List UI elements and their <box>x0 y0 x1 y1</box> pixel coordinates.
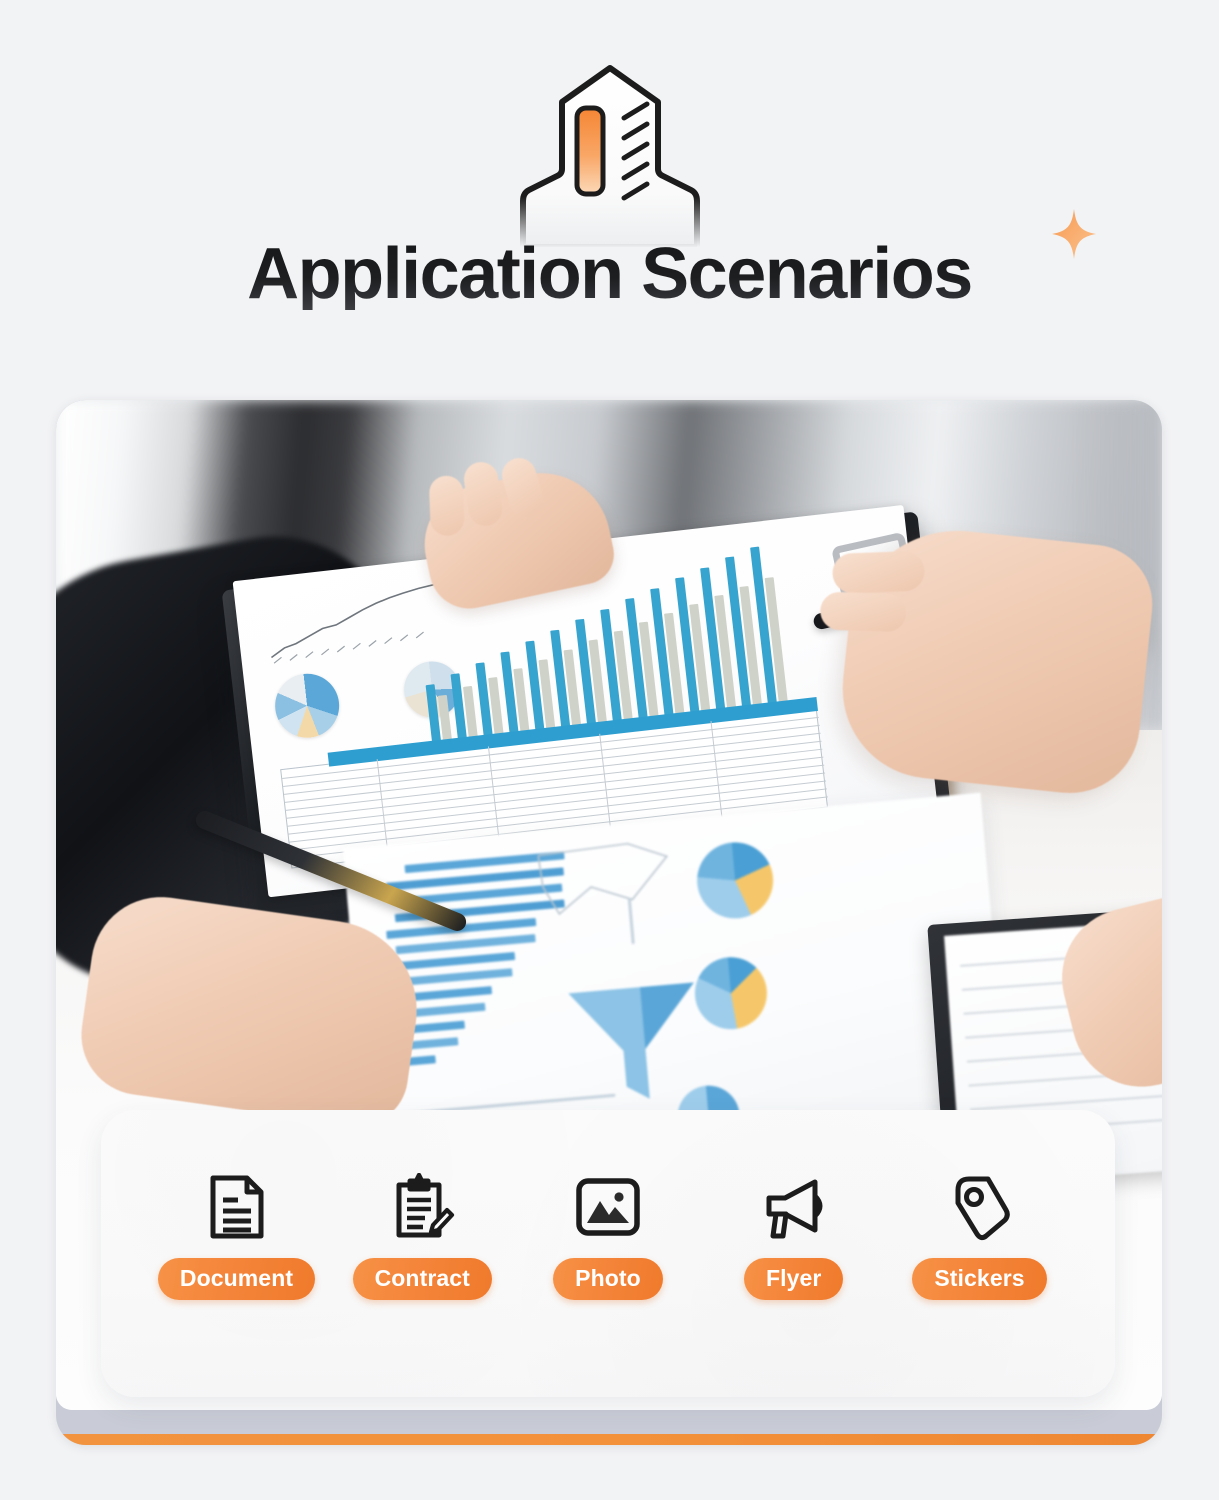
page-header: Application Scenarios <box>0 0 1219 370</box>
scenario-item-contract[interactable]: Contract <box>331 1170 514 1300</box>
page-title: Application Scenarios <box>247 238 972 310</box>
funnel-chart <box>566 978 706 1109</box>
scenario-label-flyer[interactable]: Flyer <box>744 1258 843 1300</box>
scenario-panel: Document <box>101 1110 1115 1397</box>
network-diagram <box>531 833 689 946</box>
hand-right-upper <box>834 520 1158 800</box>
contract-icon <box>386 1170 458 1244</box>
scenario-list: Document <box>101 1110 1115 1397</box>
scenario-label-stickers[interactable]: Stickers <box>912 1258 1046 1300</box>
report-pie-2 <box>692 954 770 1032</box>
scenario-item-flyer[interactable]: Flyer <box>702 1170 885 1300</box>
application-scenarios-page: Application Scenarios <box>0 0 1219 1500</box>
page-title-row: Application Scenarios <box>0 238 1219 310</box>
document-icon <box>201 1170 273 1244</box>
building-tower-icon <box>495 62 725 247</box>
scenario-label-photo[interactable]: Photo <box>553 1258 663 1300</box>
tag-icon <box>944 1170 1016 1244</box>
scenario-label-document[interactable]: Document <box>158 1258 315 1300</box>
pie-chart-1 <box>272 670 343 741</box>
megaphone-icon <box>758 1170 830 1244</box>
report-pie-1 <box>694 839 776 921</box>
scenario-label-contract[interactable]: Contract <box>353 1258 492 1300</box>
scenario-item-photo[interactable]: Photo <box>517 1170 700 1300</box>
orange-accent-bar <box>56 1434 1162 1445</box>
photo-icon <box>572 1170 644 1244</box>
scenario-item-document[interactable]: Document <box>145 1170 328 1300</box>
scenario-item-stickers[interactable]: Stickers <box>888 1170 1071 1300</box>
sparkle-icon <box>1051 208 1097 260</box>
